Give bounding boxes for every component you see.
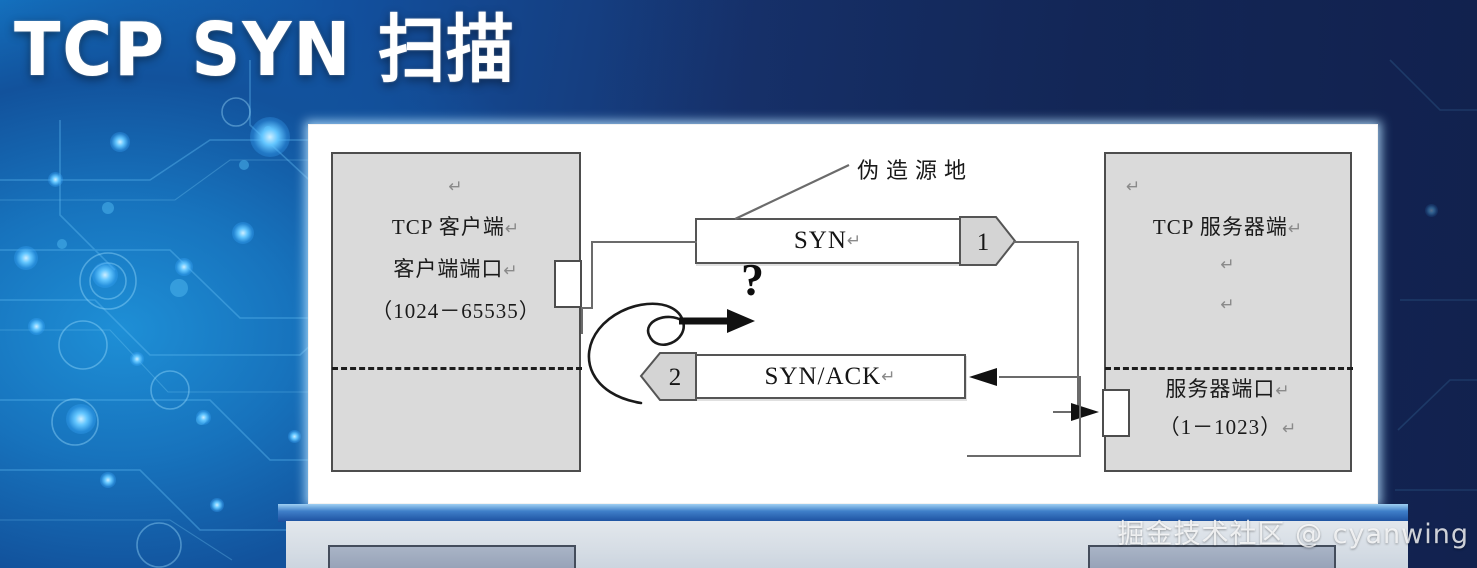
server-mark-2: ↵ bbox=[1104, 251, 1352, 276]
client-line-3: （1024－65535） bbox=[331, 295, 581, 325]
forged-source-annotation: 伪造源地 bbox=[857, 153, 973, 185]
server-inbound-arrow-icon bbox=[1069, 401, 1105, 423]
title-cn: 扫描 bbox=[378, 7, 514, 93]
syn-packet: SYN↵ bbox=[695, 218, 961, 264]
server-line-3: （1－1023）↵ bbox=[1104, 411, 1352, 441]
question-mark: ? bbox=[741, 253, 764, 306]
client-top-mark: ↵ bbox=[331, 173, 581, 198]
watermark: 掘金技术社区 @ cyanwing bbox=[1118, 512, 1469, 551]
server-layer-divider bbox=[1105, 367, 1353, 370]
next-slide-box-left bbox=[328, 545, 576, 568]
diagram-panel-inner: ↵ TCP 客户端↵ 客户端端口↵ （1024－65535） ↵ TCP 服务器… bbox=[308, 124, 1378, 504]
wire-synack-v2 bbox=[1079, 376, 1081, 456]
synack-inbound-arrow-icon bbox=[961, 366, 1001, 388]
wire-client-out-h2 bbox=[591, 241, 697, 243]
server-top-mark: ↵ bbox=[1104, 173, 1196, 198]
client-layer-divider bbox=[332, 367, 582, 370]
forged-source-leader-line bbox=[729, 161, 869, 221]
title-en: TCP SYN bbox=[14, 7, 352, 93]
wire-synack-h2 bbox=[999, 376, 1081, 378]
page-title: TCP SYN 扫描 bbox=[14, 2, 514, 98]
client-line-1: TCP 客户端↵ bbox=[331, 211, 581, 241]
server-mark-3: ↵ bbox=[1104, 291, 1352, 316]
wire-client-loop-stub bbox=[581, 308, 583, 334]
diagram-panel: ↵ TCP 客户端↵ 客户端端口↵ （1024－65535） ↵ TCP 服务器… bbox=[308, 124, 1378, 504]
slide-stage: TCP SYN 扫描 ↵ TCP 客户端↵ 客户端端口↵ （1024－65535… bbox=[0, 0, 1477, 568]
wire-synack-h1 bbox=[967, 455, 1081, 457]
syn-step-chip: 1 bbox=[959, 216, 1017, 266]
server-line-1: TCP 服务器端↵ bbox=[1104, 211, 1352, 241]
server-port-socket bbox=[1102, 389, 1130, 437]
svg-text:1: 1 bbox=[977, 229, 990, 256]
server-line-2: 服务器端口↵ bbox=[1104, 373, 1352, 403]
syn-packet-label: SYN↵ bbox=[697, 220, 959, 262]
client-line-2: 客户端端口↵ bbox=[331, 253, 581, 283]
wire-syn-to-server-h bbox=[1013, 241, 1079, 243]
dropped-response-loop-arrow bbox=[571, 283, 801, 413]
